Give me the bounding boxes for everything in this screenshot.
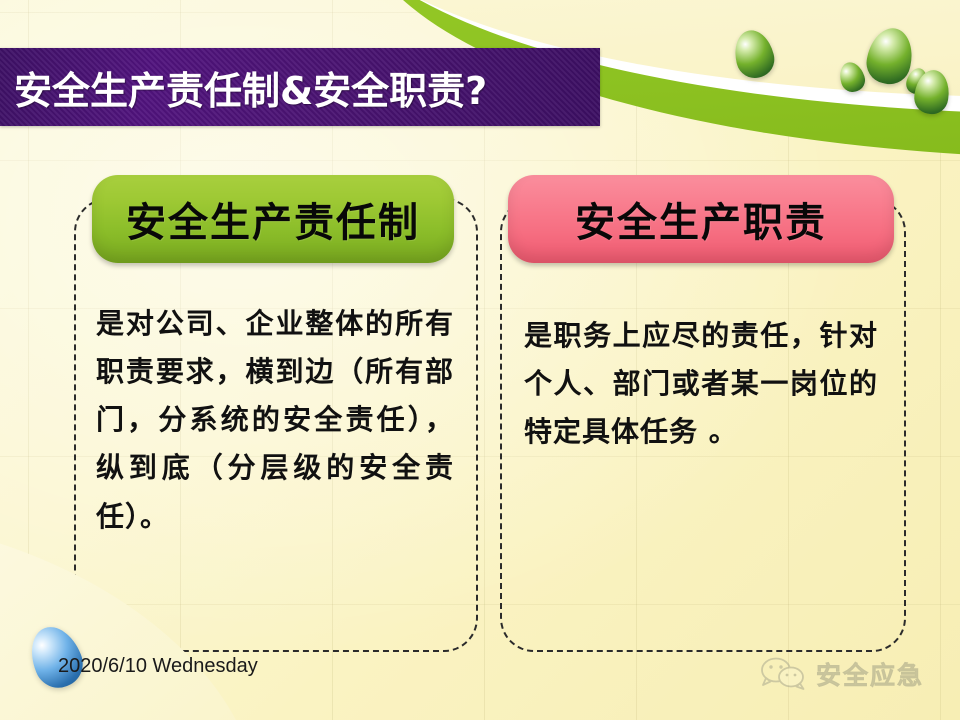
header-pill-right: 安全生产职责 — [508, 175, 894, 263]
body-text-left: 是对公司、企业整体的所有职责要求，横到边（所有部门，分系统的安全责任），纵到底（… — [96, 300, 454, 541]
watermark: 安全应急 — [760, 656, 924, 692]
header-pill-right-label: 安全生产职责 — [575, 190, 827, 248]
header-pill-left: 安全生产责任制 — [92, 175, 454, 263]
page-title: 安全生产责任制&安全职责? — [0, 60, 487, 115]
slide-canvas: 安全生产责任制&安全职责? 安全生产责任制 安全生产职责 是对公司、企业整体的所… — [0, 0, 960, 720]
watermark-label: 安全应急 — [816, 656, 924, 692]
header-pill-left-label: 安全生产责任制 — [126, 190, 420, 248]
slide-title-bar: 安全生产责任制&安全职责? — [0, 48, 600, 126]
body-text-right: 是职务上应尽的责任，针对个人、部门或者某一岗位的特定具体任务 。 — [524, 312, 878, 456]
wechat-icon — [760, 657, 806, 691]
footer-date: 2020/6/10 Wednesday — [58, 655, 258, 678]
